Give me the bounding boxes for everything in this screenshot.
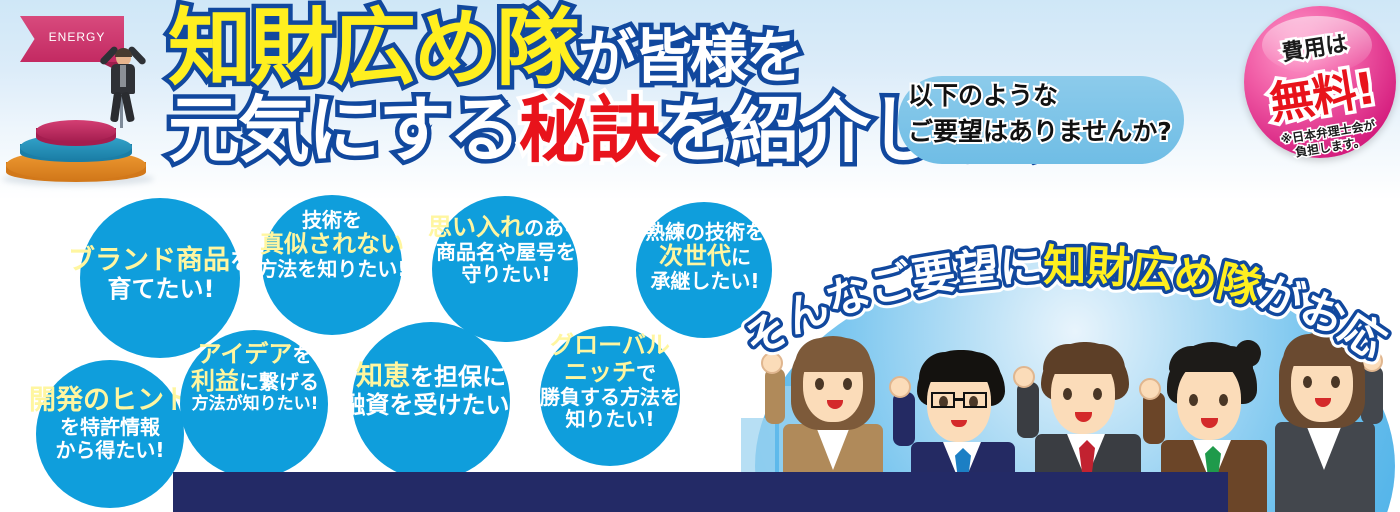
person-4-fist — [1139, 378, 1161, 400]
bubble-idea-plain-1: を — [292, 343, 312, 367]
badge-content: 費用は 無料! ※日本弁理士会が 負担します。 — [1233, 0, 1400, 169]
arc-headline: そんなご要望に知財広め隊がお応えします! そんなご要望に知財広め隊がお応えします… — [735, 228, 1400, 378]
bubble-globalniche-plain-2: で — [636, 361, 656, 385]
bubble-imitation-text: 技術を 真似されない 方法を知りたい! — [244, 209, 420, 281]
person-leg-right — [121, 91, 135, 122]
bubble-brandname-line-2: 商品名や屋号を — [418, 241, 594, 263]
headline-line-1: 知財広め隊が皆様を — [168, 6, 888, 90]
bubble-loan-accent-1: 知恵 — [356, 361, 410, 392]
energy-mascot: ENERGY — [0, 0, 180, 190]
bubble-globalniche-accent-2: ニッチ — [564, 358, 636, 386]
cheering-person — [92, 46, 150, 126]
banner-root: ENERGY 知財広め隊が皆様を 元気にする秘訣を紹介します! 以下のような — [0, 0, 1400, 512]
headline-secret-word: 秘訣 — [519, 88, 659, 172]
headline-line2-a: 元気にする — [168, 88, 519, 172]
bubble-brandname-line-1: 思い入れのある — [418, 214, 594, 241]
person-4-eye-left — [1189, 394, 1198, 406]
bubble-loan-line-2: 融資を受けたい! — [326, 392, 536, 419]
flag-label: ENERGY — [34, 30, 120, 44]
bubble-brandname-accent-1: 思い入れ — [428, 213, 524, 241]
bubble-brandname-text: 思い入れのある 商品名や屋号を 守りたい! — [418, 214, 594, 286]
person-3-eye-left — [1063, 388, 1072, 400]
bubble-globalniche-line-3: 勝負する方法を — [524, 386, 696, 408]
bubble-loan-plain-1: を担保に — [410, 363, 506, 391]
bubble-patentinfo-line-3: から得たい! — [2, 439, 218, 461]
bubble-imitation-line-2: 真似されない — [244, 231, 420, 258]
arc-text-svg: そんなご要望に知財広め隊がお応えします! そんなご要望に知財広め隊がお応えします… — [735, 228, 1400, 378]
person-2-arm — [893, 392, 915, 446]
question-line-2: ご要望はありませんか? — [908, 114, 1198, 150]
bubble-idea-line-3: 方法が知りたい! — [168, 395, 342, 414]
glasses-bridge-icon — [955, 398, 963, 401]
person-3-eye-right — [1093, 388, 1102, 400]
bubble-imitation-line-3: 方法を知りたい! — [244, 258, 420, 280]
bubble-loan-line-1: 知恵を担保に — [326, 362, 536, 392]
arc-text-fill: そんなご要望に知財広め隊がお応えします! — [735, 228, 1394, 369]
glasses-icon — [931, 392, 955, 408]
headline-line1-tail: が皆様を — [578, 23, 802, 91]
person-leg-left — [110, 92, 122, 123]
person-3-arm — [1017, 382, 1039, 438]
person-4-eye-right — [1219, 394, 1228, 406]
person-1-eye-left — [815, 378, 824, 390]
person-2-fist — [889, 376, 911, 398]
bubble-idea-line-1: アイデアを — [168, 341, 342, 368]
bubble-brandname-plain-1: のある — [524, 216, 584, 240]
person-1-eye-right — [843, 378, 852, 390]
bubble-globalniche-line-4: 知りたい! — [524, 408, 696, 430]
bubble-imitation-line-1: 技術を — [244, 209, 420, 231]
bubble-globalniche-line-1: グローバル — [524, 332, 696, 359]
bubble-idea-accent-2: 利益 — [191, 367, 239, 395]
bubble-idea-line-2: 利益に繋げる — [168, 368, 342, 395]
headline: 知財広め隊が皆様を 元気にする秘訣を紹介します! — [168, 6, 888, 166]
headline-line-2: 元気にする秘訣を紹介します! — [168, 94, 888, 166]
person-4-arm — [1143, 392, 1165, 444]
bubble-globalniche-text: グローバル ニッチで 勝負する方法を 知りたい! — [524, 332, 696, 431]
bubble-succession-accent-2: 次世代 — [659, 242, 731, 270]
podium-tier-top — [36, 120, 116, 142]
bubble-globalniche-line-2: ニッチで — [524, 359, 696, 386]
bottom-navy-bar — [173, 472, 1228, 512]
bubble-brandname-line-3: 守りたい! — [418, 263, 594, 285]
bubble-idea-accent-1: アイデア — [198, 340, 293, 368]
bubble-brand-accent-1: ブランド商品 — [68, 245, 230, 276]
headline-main-title: 知財広め隊 — [168, 0, 578, 97]
bubble-idea-plain-2: に繋げる — [239, 370, 319, 394]
person-shirt — [120, 65, 126, 87]
bubble-idea-text: アイデアを 利益に繋げる 方法が知りたい! — [168, 341, 342, 414]
bubble-loan-text: 知恵を担保に 融資を受けたい! — [326, 362, 536, 419]
question-line-1: 以下のような — [908, 78, 1198, 114]
question-pill-text: 以下のような ご要望はありませんか? — [900, 78, 1198, 151]
glasses-icon-right — [963, 392, 987, 408]
